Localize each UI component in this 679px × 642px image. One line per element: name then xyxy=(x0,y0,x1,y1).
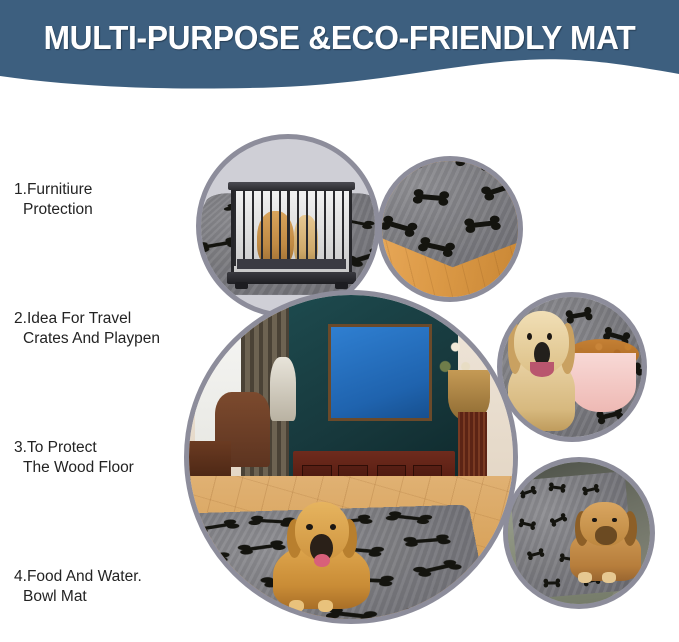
infographic-page: MULTI-PURPOSE &ECO-FRIENDLY MAT 1.Furnit… xyxy=(0,0,679,642)
food-bowl-photo xyxy=(497,292,647,442)
car-seat-photo xyxy=(503,457,655,609)
photo-cluster xyxy=(0,0,679,642)
food-bowl xyxy=(569,353,636,412)
side-table xyxy=(189,441,231,480)
television xyxy=(328,324,431,421)
golden-retriever xyxy=(273,502,370,609)
brown-puppy xyxy=(570,502,641,582)
living-room-photo xyxy=(184,290,518,624)
table-lamp xyxy=(270,357,296,422)
dog-crate xyxy=(231,188,353,278)
golden-retriever xyxy=(505,311,578,431)
wood-floor-photo xyxy=(377,156,523,302)
